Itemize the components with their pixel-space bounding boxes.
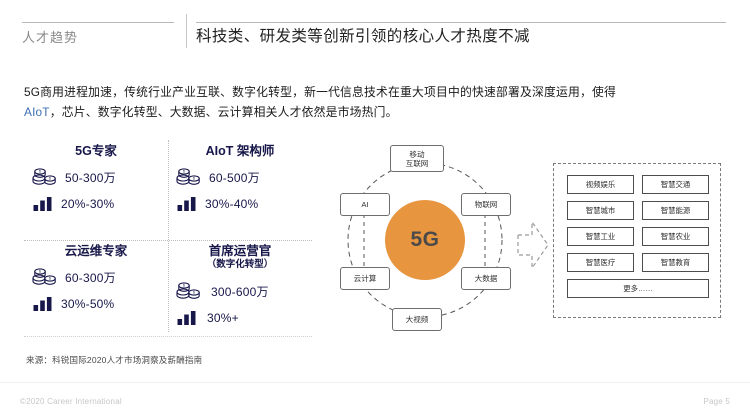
stat-cell-5g-expert: 5G专家 $ $	[24, 140, 168, 212]
svg-text:$: $	[39, 170, 41, 174]
node-label: 云计算	[354, 274, 377, 283]
growth-value: 30%-50%	[61, 297, 114, 311]
salary-value: 50-300万	[65, 169, 116, 186]
role-title: 云运维专家	[24, 240, 168, 258]
five-g-ecosystem-diagram: 5G 移动 互联网 物联网 大数据 大视频 云计算 AI	[318, 145, 533, 335]
bar-chart-icon	[32, 296, 54, 312]
node-label: AI	[361, 200, 368, 209]
role-name: 云运维专家	[65, 244, 128, 258]
application-chip[interactable]: 视频娱乐	[567, 175, 634, 194]
coin-stack-icon: $ $	[32, 267, 58, 287]
growth-value: 30%+	[205, 311, 239, 325]
svg-text:$: $	[183, 284, 185, 288]
growth-row: 30%-50%	[24, 296, 168, 312]
footer-page-number: Page 5	[703, 397, 730, 406]
right-arrow-icon	[516, 218, 550, 277]
role-title: 5G专家	[24, 140, 168, 158]
svg-text:$: $	[193, 291, 195, 295]
salary-row: $ $ 60-300万	[24, 267, 168, 287]
node-big-data: 大数据	[461, 267, 511, 290]
salary-value: 60-500万	[209, 169, 260, 186]
slide-canvas: 人才趋势 科技类、研发类等创新引领的核心人才热度不减 5G商用进程加速，传统行业…	[0, 0, 750, 419]
salary-stats-table: 5G专家 $ $	[24, 140, 312, 345]
salary-row: $ $ 50-300万	[24, 167, 168, 187]
table-bottom-divider	[24, 336, 312, 337]
stat-cell-chief-operating-officer: 首席运营官 （数字化转型） $ $	[168, 240, 312, 326]
node-ai: AI	[340, 193, 390, 216]
core-label: 5G	[410, 228, 439, 252]
application-chip[interactable]: 智慧工业	[567, 227, 634, 246]
salary-row: $ $ 300-600万	[168, 281, 312, 301]
page-title: 科技类、研发类等创新引领的核心人才热度不减	[196, 24, 530, 46]
growth-row: 30%-40%	[168, 196, 312, 212]
intro-paragraph: 5G商用进程加速，传统行业产业互联、数字化转型，新一代信息技术在重大项目中的快速…	[24, 82, 684, 122]
growth-row: 30%+	[168, 310, 312, 326]
role-name: 首席运营官	[209, 244, 272, 258]
intro-line-1: 5G商用进程加速，传统行业产业互联、数字化转型，新一代信息技术在重大项目中的快速…	[24, 85, 616, 99]
node-cloud-computing: 云计算	[340, 267, 390, 290]
node-label-line2: 互联网	[406, 159, 429, 168]
growth-value: 30%-40%	[205, 197, 258, 211]
coin-stack-icon: $ $	[176, 281, 202, 301]
bar-chart-icon	[176, 196, 198, 212]
slide-header: 人才趋势 科技类、研发类等创新引领的核心人才热度不减	[0, 0, 750, 58]
growth-value: 20%-30%	[61, 197, 114, 211]
header-vertical-separator	[186, 14, 187, 48]
role-name: AIoT 架构师	[206, 144, 275, 158]
svg-text:$: $	[39, 270, 41, 274]
coin-stack-icon: $ $	[32, 167, 58, 187]
header-rule-left	[22, 22, 174, 23]
intro-line-2: ，芯片、数字化转型、大数据、云计算相关人才依然是市场热门。	[50, 105, 398, 119]
applications-panel: 视频娱乐 智慧交通 智慧城市 智慧能源 智慧工业 智慧农业 智慧医疗 智慧教育 …	[553, 163, 721, 318]
salary-value: 300-600万	[209, 283, 269, 300]
node-label: 物联网	[475, 200, 498, 209]
node-label-line1: 移动	[409, 150, 424, 159]
svg-text:$: $	[49, 177, 51, 181]
header-rule-right	[196, 22, 726, 23]
application-chip[interactable]: 智慧农业	[642, 227, 709, 246]
node-iot: 物联网	[461, 193, 511, 216]
svg-text:$: $	[183, 170, 185, 174]
five-g-core-circle: 5G	[385, 200, 465, 280]
header-kicker: 人才趋势	[22, 27, 78, 46]
footer-divider	[0, 382, 750, 383]
bar-chart-icon	[32, 196, 54, 212]
node-big-video: 大视频	[392, 308, 442, 331]
bar-chart-icon	[176, 310, 198, 326]
application-chip[interactable]: 智慧医疗	[567, 253, 634, 272]
role-title: AIoT 架构师	[168, 140, 312, 158]
applications-grid: 视频娱乐 智慧交通 智慧城市 智慧能源 智慧工业 智慧农业 智慧医疗 智慧教育 …	[567, 175, 709, 298]
stat-cell-aiot-architect: AIoT 架构师 $ $	[168, 140, 312, 212]
svg-text:$: $	[49, 277, 51, 281]
role-title: 首席运营官 （数字化转型）	[168, 240, 312, 272]
growth-row: 20%-30%	[24, 196, 168, 212]
footer-copyright: ©2020 Career International	[20, 397, 122, 406]
application-chip[interactable]: 智慧城市	[567, 201, 634, 220]
application-chip-more[interactable]: 更多……	[567, 279, 709, 298]
role-subtitle: （数字化转型）	[168, 258, 312, 272]
source-note: 来源：科锐国际2020人才市场洞察及薪酬指南	[26, 354, 202, 366]
node-label: 大数据	[475, 274, 498, 283]
intro-highlight-aiot: AIoT	[24, 105, 50, 119]
node-mobile-internet: 移动 互联网	[390, 145, 444, 172]
application-chip[interactable]: 智慧教育	[642, 253, 709, 272]
coin-stack-icon: $ $	[176, 167, 202, 187]
svg-text:$: $	[193, 177, 195, 181]
application-chip[interactable]: 智慧交通	[642, 175, 709, 194]
application-chip[interactable]: 智慧能源	[642, 201, 709, 220]
salary-row: $ $ 60-500万	[168, 167, 312, 187]
stat-cell-cloud-ops-expert: 云运维专家 $ $	[24, 240, 168, 312]
role-name: 5G专家	[75, 144, 117, 158]
node-label: 大视频	[406, 315, 429, 324]
salary-value: 60-300万	[65, 269, 116, 286]
